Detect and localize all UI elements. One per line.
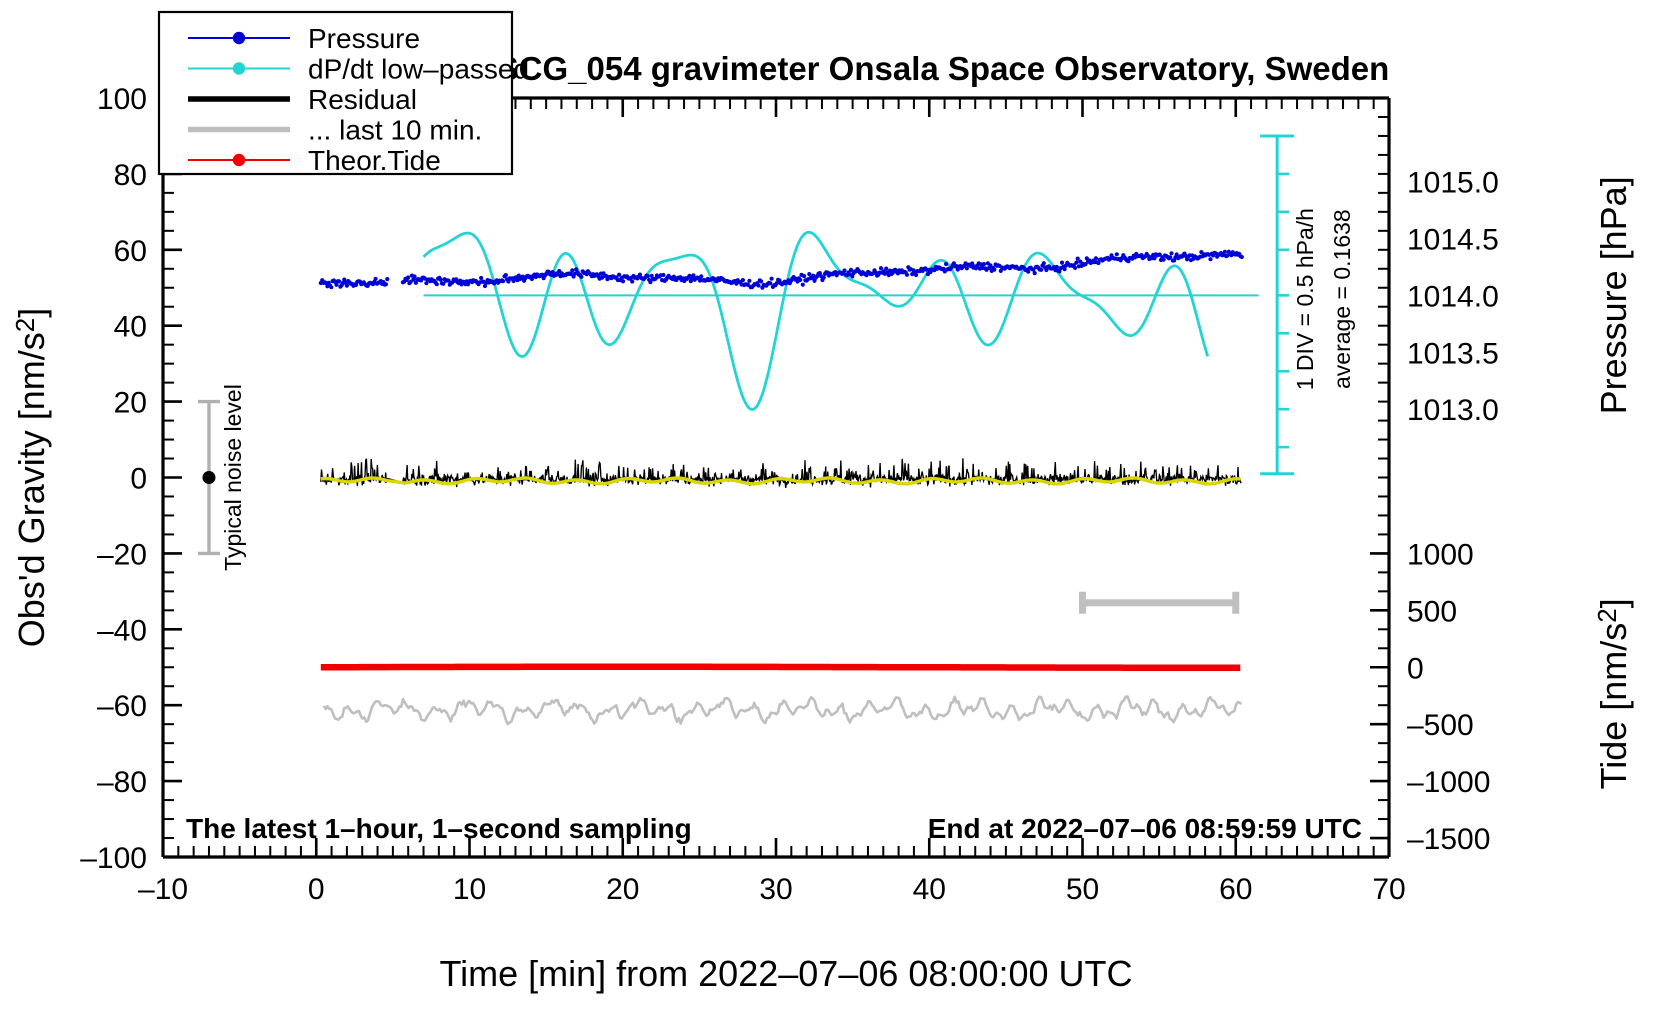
pressure-point (905, 273, 909, 277)
y-tick-label: –100 (80, 842, 147, 875)
pressure-point (1055, 265, 1059, 269)
typical-noise-level-label: Typical noise level (220, 384, 246, 571)
pressure-point (884, 267, 888, 271)
pressure-point (501, 279, 505, 283)
y-tick-label: 80 (114, 159, 147, 192)
pressure-point (337, 279, 341, 283)
x-tick-label: 60 (1219, 873, 1252, 906)
legend-swatch-marker (233, 154, 245, 166)
pressure-rate-scale-bar: 1 DIV = 0.5 hPa/haverage = 0.1638 (1260, 136, 1355, 474)
y-tick-label: 60 (114, 235, 147, 268)
y-tick-label: 0 (130, 463, 147, 496)
pressure-point (385, 277, 389, 281)
pressure-point (768, 281, 772, 285)
pressure-point (798, 278, 802, 282)
pressure-point (439, 278, 443, 282)
pressure-point (1033, 271, 1037, 275)
pressure-point (661, 273, 665, 277)
pressure-point (842, 268, 846, 272)
pressure-point (1074, 261, 1078, 265)
pressure-point (756, 283, 760, 287)
typical-noise-level-marker: Typical noise level (198, 384, 246, 571)
pressure-point (1223, 250, 1227, 254)
pressure-point (1169, 251, 1173, 255)
pressure-point (621, 279, 625, 283)
plot-title: SCG_054 gravimeter Onsala Space Observat… (497, 50, 1390, 87)
y-tick-label: 40 (114, 311, 147, 344)
pressure-point (1073, 266, 1077, 270)
y-axis-ticks-left: 100806040200–20–40–60–80–100 (80, 83, 182, 875)
x-tick-label: 10 (453, 873, 486, 906)
legend-label: Theor.Tide (308, 145, 441, 176)
pressure-point (617, 273, 621, 277)
y-axis-title-right-pressure: Pressure [hPa] (1593, 176, 1634, 414)
pressure-point (646, 274, 650, 278)
pressure-point (329, 285, 333, 289)
x-tick-label: 70 (1372, 873, 1405, 906)
pressure-point (334, 283, 338, 287)
pressure-point (1026, 270, 1030, 274)
pressure-point (822, 276, 826, 280)
pressure-point (1060, 261, 1064, 265)
legend-swatch-marker (233, 32, 245, 44)
pressure-point (1039, 268, 1043, 272)
series-last-10-min (324, 697, 1242, 725)
pressure-point (1240, 255, 1244, 259)
pressure-point (802, 274, 806, 278)
pressure-point (1063, 267, 1067, 271)
pressure-point (699, 274, 703, 278)
pressure-point (747, 279, 751, 283)
annotation-bottom-left: The latest 1–hour, 1–second sampling (186, 813, 692, 844)
pressure-point (801, 283, 805, 287)
scale-average-label: average = 0.1638 (1329, 209, 1355, 389)
pressure-point (770, 277, 774, 281)
pressure-point (914, 273, 918, 277)
legend[interactable]: PressuredP/dt low–passedResidual... last… (159, 12, 529, 176)
pressure-point (741, 278, 745, 282)
plot-area (319, 232, 1259, 724)
gravimeter-chart: Typical noise level1 DIV = 0.5 hPa/haver… (0, 0, 1660, 1020)
legend-label: ... last 10 min. (308, 115, 482, 146)
pressure-point (1162, 258, 1166, 262)
pressure-point (479, 276, 483, 280)
pressure-point (384, 282, 388, 286)
legend-label: Pressure (308, 23, 420, 54)
y-tick-label: 100 (97, 83, 147, 116)
pressure-point (1094, 256, 1098, 260)
right-tide-tick-label: –1000 (1407, 766, 1490, 799)
pressure-point (1042, 261, 1046, 265)
series-pressure (319, 250, 1244, 290)
x-tick-label: 50 (1066, 873, 1099, 906)
pressure-point (406, 275, 410, 279)
x-tick-label: 20 (606, 873, 639, 906)
noise-center-dot (202, 471, 215, 484)
right-pressure-tick-label: 1013.0 (1407, 394, 1499, 427)
pressure-point (982, 262, 986, 266)
right-tide-tick-label: –1500 (1407, 823, 1490, 856)
annotation-bottom-right: End at 2022–07–06 08:59:59 UTC (928, 813, 1362, 844)
legend-swatch-marker (233, 62, 245, 74)
right-tide-tick-label: 1000 (1407, 538, 1474, 571)
right-pressure-tick-label: 1015.0 (1407, 166, 1499, 199)
pressure-point (579, 275, 583, 279)
x-tick-label: 30 (759, 873, 792, 906)
pressure-point (435, 282, 439, 286)
y-axis-title-right-tide: Tide [nm/s2] (1592, 598, 1634, 789)
x-tick-label: 0 (308, 873, 325, 906)
y-tick-label: 20 (114, 387, 147, 420)
pressure-point (345, 284, 349, 288)
y-tick-label: –40 (97, 614, 147, 647)
y-tick-label: –20 (97, 538, 147, 571)
x-axis-title: Time [min] from 2022–07–06 08:00:00 UTC (439, 953, 1132, 994)
legend-label: dP/dt low–passed (308, 54, 529, 85)
legend-label: Residual (308, 84, 417, 115)
pressure-point (807, 272, 811, 276)
x-tick-label: 40 (913, 873, 946, 906)
pressure-point (992, 268, 996, 272)
right-tide-tick-label: 500 (1407, 595, 1457, 628)
series-theoretical-tide (321, 667, 1241, 668)
right-pressure-tick-label: 1014.5 (1407, 223, 1499, 256)
pressure-point (759, 279, 763, 283)
y-tick-label: –80 (97, 766, 147, 799)
pressure-point (1115, 252, 1119, 256)
right-tide-tick-label: 0 (1407, 652, 1424, 685)
pressure-point (944, 262, 948, 266)
pressure-point (1208, 257, 1212, 261)
pressure-point (374, 277, 378, 281)
pressure-point (630, 279, 634, 283)
x-tick-label: –10 (138, 873, 188, 906)
right-tide-tick-label: –500 (1407, 709, 1474, 742)
scale-div-label: 1 DIV = 0.5 hPa/h (1292, 208, 1318, 390)
pressure-point (570, 268, 574, 272)
pressure-point (504, 273, 508, 277)
right-pressure-tick-label: 1013.5 (1407, 337, 1499, 370)
y-tick-label: –60 (97, 690, 147, 723)
x-axis-ticks: –10010203040506070 (138, 98, 1406, 906)
right-pressure-tick-label: 1014.0 (1407, 280, 1499, 313)
last-10-min-indicator-bar (1083, 592, 1236, 614)
gravimeter-plot-page: Typical noise level1 DIV = 0.5 hPa/haver… (0, 0, 1660, 1020)
y-axis-title-left: Obs'd Gravity [nm/s2] (10, 308, 52, 647)
